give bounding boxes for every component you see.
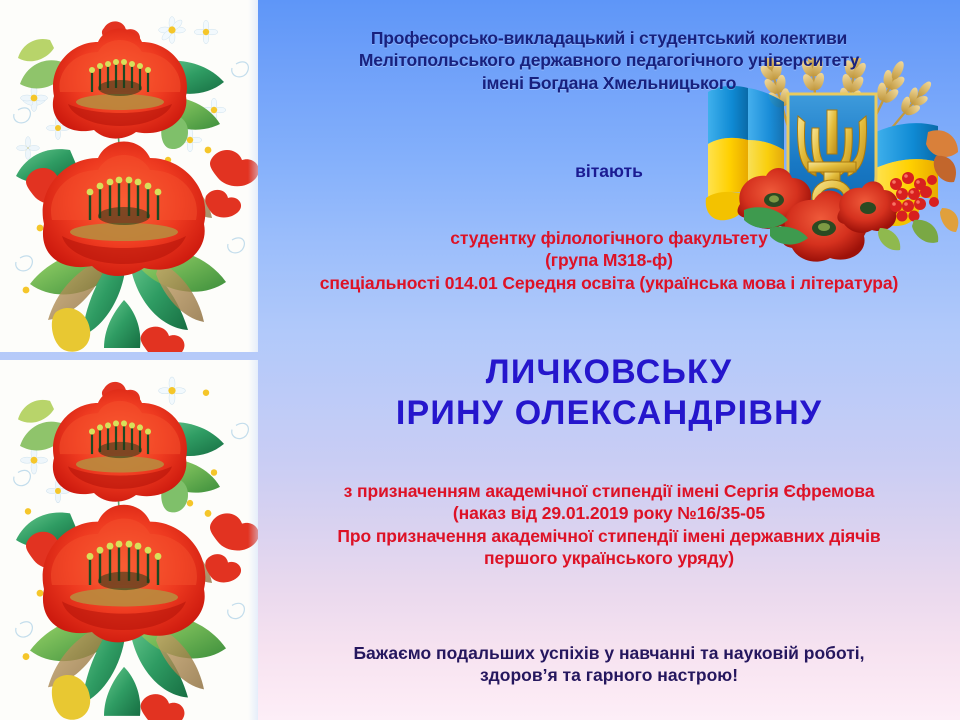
award-line-1: з призначенням академічної стипендії іме…: [258, 480, 960, 502]
recipient-surname: ЛИЧКОВСЬКУ: [258, 352, 960, 393]
wish-block: Бажаємо подальших успіхів у навчанні та …: [258, 642, 960, 687]
text-column: Професорсько-викладацький і студентський…: [258, 0, 960, 720]
folk-art-panel-bottom: [0, 360, 258, 720]
panel-edge-fade: [248, 0, 258, 352]
header-line-3: імені Богдана Хмельницького: [258, 72, 960, 94]
recipient-name-block: ЛИЧКОВСЬКУ ІРИНУ ОЛЕКСАНДРІВНУ: [258, 352, 960, 435]
greeting-block: вітають: [258, 160, 960, 182]
student-faculty-line: студентку філологічного факультету: [258, 227, 960, 249]
panel-edge-fade: [248, 360, 258, 720]
petrykivka-floral-icon: [0, 360, 258, 720]
certificate-canvas: Професорсько-викладацький і студентський…: [0, 0, 960, 720]
petrykivka-floral-icon: [0, 0, 258, 352]
award-line-4: першого українського уряду): [258, 547, 960, 569]
folk-art-panel-top: [0, 0, 258, 352]
student-group-line: (група М318-ф): [258, 249, 960, 271]
header-line-1: Професорсько-викладацький і студентський…: [258, 27, 960, 49]
wish-line-2: здоров’я та гарного настрою!: [258, 664, 960, 686]
student-speciality-line: спеціальності 014.01 Середня освіта (укр…: [258, 272, 960, 294]
header-line-2: Мелітопольського державного педагогічног…: [258, 49, 960, 71]
header-block: Професорсько-викладацький і студентський…: [258, 27, 960, 94]
greeting-text: вітають: [258, 160, 960, 182]
award-line-3: Про призначення академічної стипендії ім…: [258, 525, 960, 547]
award-block: з призначенням академічної стипендії іме…: [258, 480, 960, 570]
recipient-given-name: ІРИНУ ОЛЕКСАНДРІВНУ: [258, 393, 960, 434]
student-block: студентку філологічного факультету (груп…: [258, 227, 960, 294]
wish-line-1: Бажаємо подальших успіхів у навчанні та …: [258, 642, 960, 664]
award-line-2: (наказ від 29.01.2019 року №16/35-05: [258, 502, 960, 524]
